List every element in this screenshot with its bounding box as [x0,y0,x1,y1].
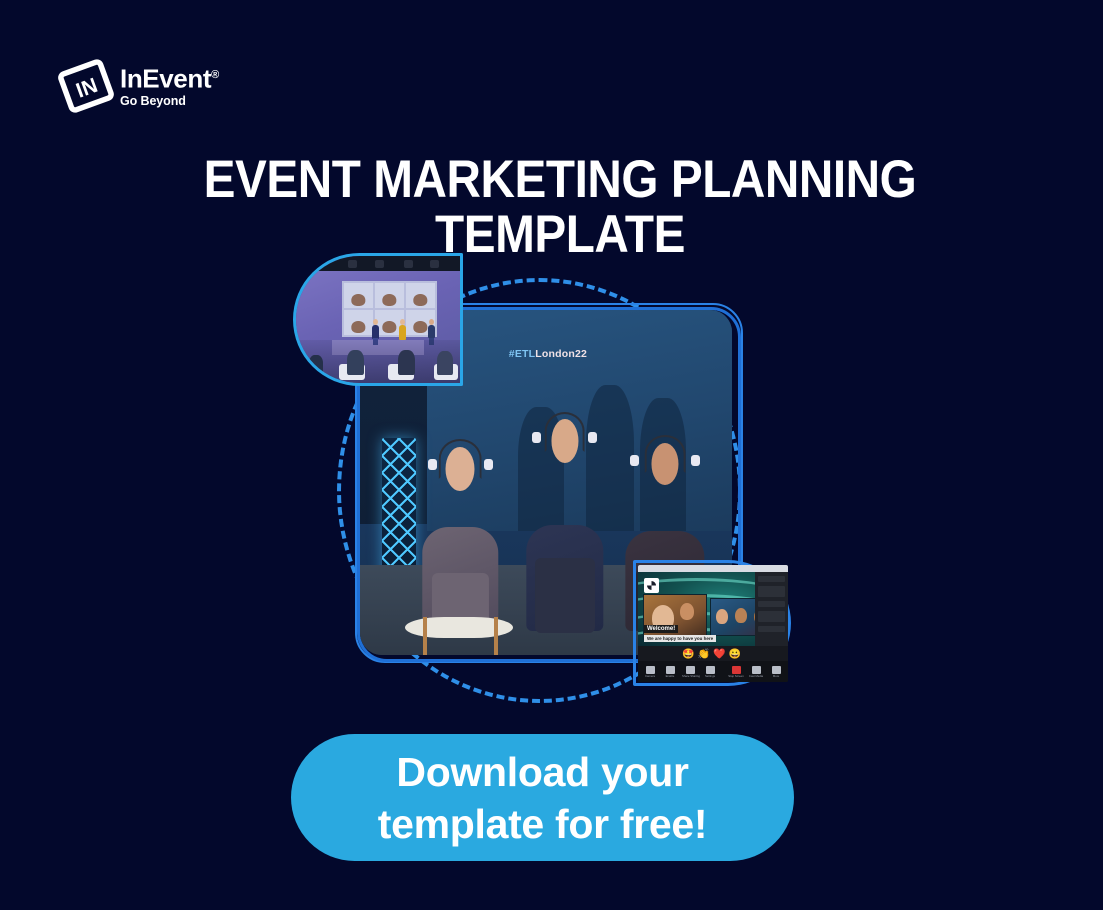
brand-tagline: Go Beyond [120,94,219,109]
meeting-settings-button[interactable]: Settings [702,666,718,678]
inset-attendee [309,355,323,375]
hybrid-event-stage-photo [293,253,463,386]
reaction-smile-icon[interactable]: 😀 [728,649,743,660]
brand-logo[interactable]: IN InEvent® Go Beyond [58,57,298,119]
video-tile [375,283,404,308]
screen-share-icon [686,666,695,674]
grid-icon [706,666,715,674]
meeting-toolbar: Camera Enable Share Sharing Settings Sto… [638,661,788,682]
svg-text:IN: IN [73,74,101,103]
brand-name: InEvent® [120,61,219,93]
video-tile [406,283,435,308]
inset-attendee [347,350,364,375]
meeting-more-button[interactable]: More [768,666,784,678]
backdrop-hashtag: #ETLLondon22 [509,348,587,360]
meeting-sidebar[interactable] [755,572,788,646]
reaction-heart-icon[interactable]: ❤️ [713,649,728,660]
brand-name-text: InEvent [120,64,211,94]
cast-icon [752,666,761,674]
camera-icon [646,666,655,674]
hashtag-prefix: #ETL [509,348,535,360]
meeting-screen-share-button[interactable]: Share Sharing [682,666,698,678]
reaction-star-struck-icon[interactable]: 🤩 [682,649,697,660]
video-tile [344,310,373,335]
download-template-button[interactable]: Download your template for free! [291,734,794,861]
meeting-caption-primary: Welcome! [644,625,678,633]
inevent-logo-icon: IN [58,59,114,113]
meeting-title-bar [638,565,788,572]
more-icon [772,666,781,674]
panelist-left [412,431,509,631]
meeting-stage: Welcome! We are happy to have you here [638,572,755,646]
virtual-meeting-screenshot: Welcome! We are happy to have you here 🤩… [638,565,788,682]
inset-attendee [398,350,415,375]
inset-video-wall [342,281,437,337]
meeting-camera-button[interactable]: Camera [642,666,658,678]
inset-attendee [437,351,453,375]
registered-mark: ® [211,69,219,81]
meeting-logo-icon [644,578,659,593]
microphone-icon [666,666,675,674]
meeting-cast-button[interactable]: Cast Media [748,666,764,678]
panelist-middle [516,410,613,631]
meeting-caption-secondary: We are happy to have you here [644,635,716,642]
hashtag-suffix: London22 [535,348,587,360]
meeting-reactions-bar[interactable]: 🤩👏❤️😀 [638,649,788,661]
brand-wordmark: InEvent® Go Beyond [120,61,219,109]
meeting-video-tile-secondary[interactable] [710,598,755,636]
poster-canvas: IN InEvent® Go Beyond EVENT MARKETING PL… [0,0,1103,910]
image-collage: #ETLLondon22 [285,245,815,710]
meeting-stop-share-button[interactable]: Stop Screen [728,666,744,678]
reaction-clap-icon[interactable]: 👏 [698,649,713,660]
meeting-microphone-button[interactable]: Enable [662,666,678,678]
stop-share-icon [732,666,741,674]
video-tile [344,283,373,308]
meeting-video-tile-main[interactable] [643,594,707,640]
